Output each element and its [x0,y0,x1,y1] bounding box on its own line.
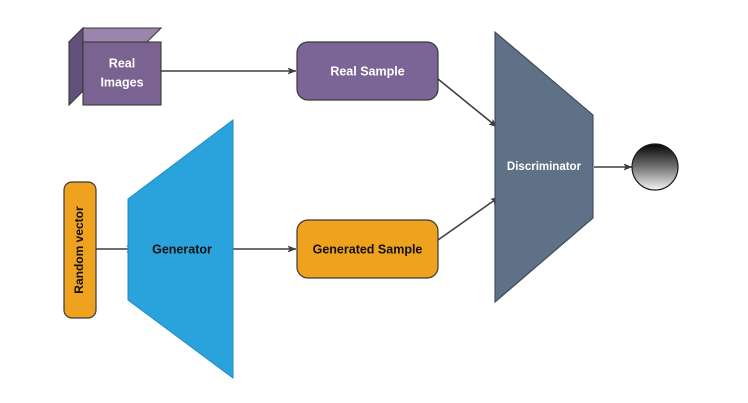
real-sample-label: Real Sample [330,64,404,78]
edge-real-sample-to-discriminator [438,79,497,127]
node-generated-sample[interactable]: Generated Sample [297,220,438,278]
real-images-label-line2: Images [100,75,143,89]
discriminator-label: Discriminator [507,161,582,173]
node-real-sample[interactable]: Real Sample [297,42,438,100]
diagram-canvas: Real Images Real Sample Random vector Ge… [0,0,748,403]
random-vector-label: Random vector [72,206,86,294]
gan-architecture-diagram: Real Images Real Sample Random vector Ge… [0,0,748,403]
real-images-front-face [83,42,161,105]
node-real-images[interactable]: Real Images [69,28,161,105]
real-images-left-face [69,28,83,105]
real-images-label-line1: Real [109,56,135,70]
node-discriminator[interactable]: Discriminator [495,32,593,302]
generated-sample-label: Generated Sample [313,242,423,256]
output-sphere [632,144,678,190]
generator-label: Generator [152,242,212,256]
node-output[interactable] [632,144,678,190]
node-generator[interactable]: Generator [128,120,233,378]
edge-generated-sample-to-discriminator [438,197,499,240]
node-random-vector[interactable]: Random vector [64,182,96,318]
